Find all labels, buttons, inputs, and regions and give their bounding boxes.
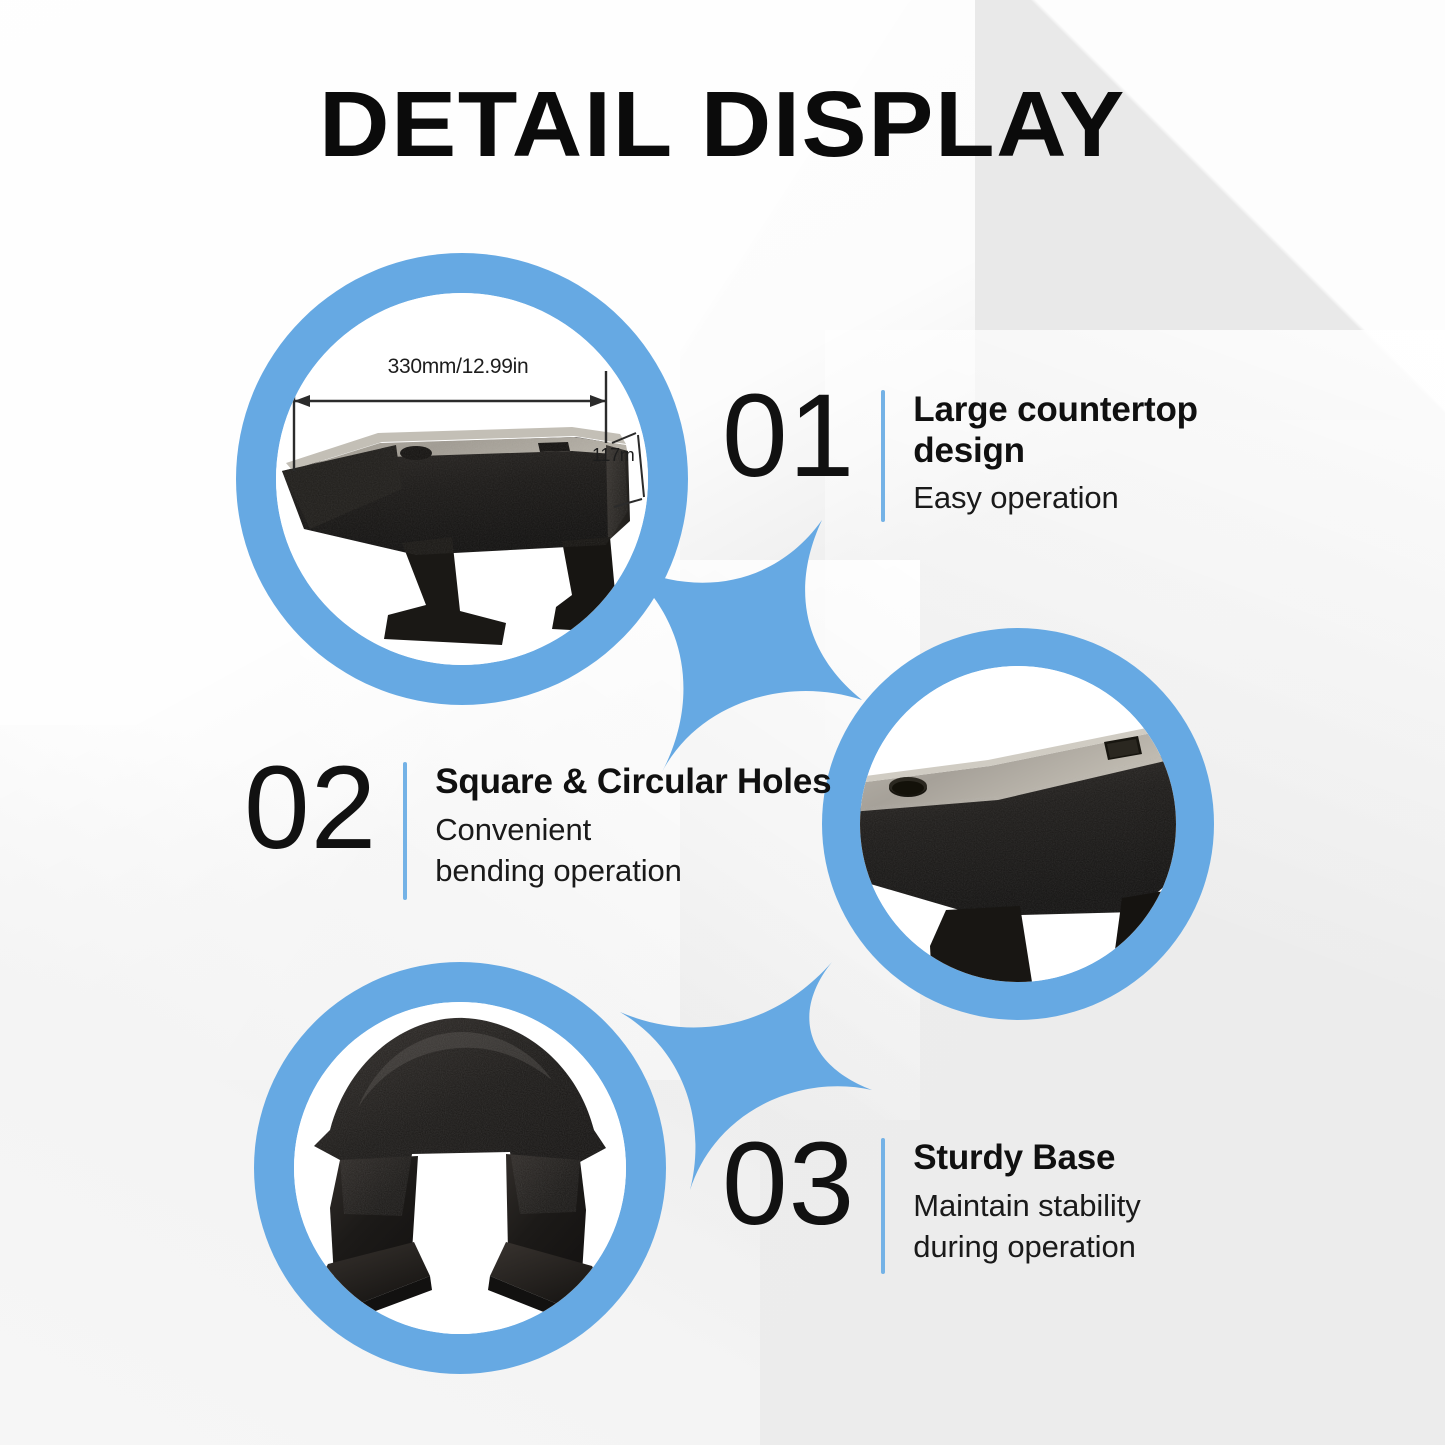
feature-title-01: Large countertop design (913, 390, 1223, 471)
feature-text-01: Large countertop design Easy operation (913, 380, 1223, 518)
feature-subtitle-01-line-0: Easy operation (913, 477, 1223, 518)
feature-block-02: 02 Square & Circular Holes Convenient be… (244, 752, 831, 900)
feature-title-03: Sturdy Base (913, 1138, 1140, 1179)
feature-block-03: 03 Sturdy Base Maintain stability during… (722, 1128, 1141, 1274)
detail-circle-2-photo-frame (860, 666, 1176, 982)
feature-subtitle-02-line-1: bending operation (435, 850, 831, 891)
feature-number-03: 03 (722, 1128, 855, 1241)
feature-title-02-text: Square & Circular Holes (435, 762, 831, 801)
anvil-top-face-photo (860, 666, 1176, 982)
feature-subtitle-01: Easy operation (913, 477, 1223, 518)
feature-title-01-text: Large countertop design (913, 390, 1198, 470)
feature-block-01: 01 Large countertop design Easy operatio… (722, 380, 1223, 522)
feature-subtitle-03-line-1: during operation (913, 1226, 1140, 1267)
feature-subtitle-03-line-0: Maintain stability (913, 1185, 1140, 1226)
feature-divider-02 (403, 762, 407, 900)
feature-subtitle-03: Maintain stability during operation (913, 1185, 1140, 1267)
feature-text-02: Square & Circular Holes Convenient bendi… (435, 752, 831, 891)
detail-circle-2[interactable] (822, 628, 1214, 1020)
feature-divider-03 (881, 1138, 885, 1274)
detail-circle-3-photo-frame (294, 1002, 626, 1334)
feature-subtitle-02: Convenient bending operation (435, 809, 831, 891)
feature-subtitle-02-line-0: Convenient (435, 809, 831, 850)
detail-circle-1[interactable]: 330mm/12.99in 117m (236, 253, 688, 705)
dimension-height-label: 117m (592, 445, 635, 466)
dimension-width-label: 330mm/12.99in (298, 355, 618, 379)
feature-title-02: Square & Circular Holes (435, 762, 831, 803)
detail-circle-3[interactable] (254, 962, 666, 1374)
anvil-side-view-photo (276, 293, 648, 665)
feature-text-03: Sturdy Base Maintain stability during op… (913, 1128, 1140, 1267)
feature-divider-01 (881, 390, 885, 522)
infographic-canvas: DETAIL DISPLAY (0, 0, 1445, 1445)
feature-number-02: 02 (244, 752, 377, 865)
feature-number-01: 01 (722, 380, 855, 493)
anvil-base-feet-photo (294, 1002, 626, 1334)
detail-circle-1-photo-frame: 330mm/12.99in 117m (276, 293, 648, 665)
feature-title-03-text: Sturdy Base (913, 1138, 1115, 1177)
